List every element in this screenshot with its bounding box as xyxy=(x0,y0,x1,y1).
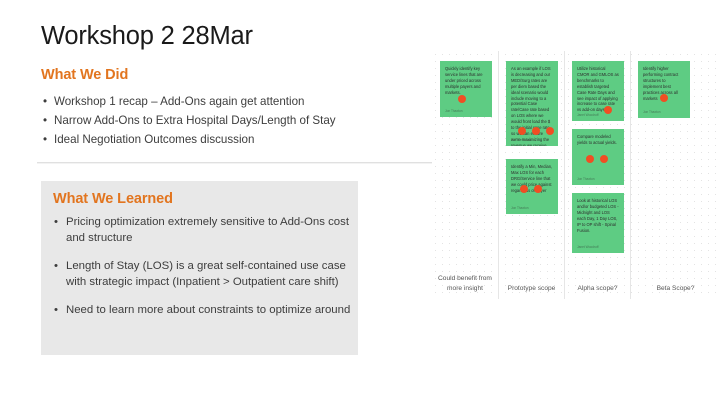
list-item-text: Need to learn more about constraints to … xyxy=(66,304,350,316)
vote-dot-icon[interactable] xyxy=(586,155,594,163)
sticky-note[interactable]: Identify a Min, Median, Max LOS for each… xyxy=(506,159,558,214)
column-label: Alpha scope? xyxy=(565,284,630,294)
bullet-icon: • xyxy=(43,130,47,149)
sticky-note-author: Jon Thaxton xyxy=(445,109,462,113)
column-label: Could benefit from more insight xyxy=(432,274,498,293)
bullet-icon: • xyxy=(54,259,58,275)
list-item: • Pricing optimization extremely sensiti… xyxy=(53,215,353,246)
what-we-did-heading: What We Did xyxy=(41,67,128,83)
list-item-text: Length of Stay (LOS) is a great self-con… xyxy=(66,260,346,288)
vote-dot-icon[interactable] xyxy=(518,127,526,135)
vote-dots[interactable] xyxy=(458,95,466,103)
what-we-learned-list: • Pricing optimization extremely sensiti… xyxy=(53,215,353,332)
sticky-note[interactable]: Identify higher performing contract stru… xyxy=(638,61,690,118)
list-item: • Length of Stay (LOS) is a great self-c… xyxy=(53,259,353,290)
list-item: • Workshop 1 recap – Add-Ons again get a… xyxy=(41,92,431,111)
bullet-icon: • xyxy=(43,111,47,130)
list-item-text: Ideal Negotiation Outcomes discussion xyxy=(54,133,254,146)
sticky-note-author: Jon Thaxton xyxy=(511,206,528,210)
vote-dot-icon[interactable] xyxy=(660,94,668,102)
bullet-icon: • xyxy=(54,303,58,319)
sticky-note-board[interactable]: Could benefit from more insight Quickly … xyxy=(432,51,720,299)
list-item: • Narrow Add-Ons to Extra Hospital Days/… xyxy=(41,111,431,130)
sticky-note-author: Janet Woodruff xyxy=(577,113,599,117)
sticky-note-text: Quickly identify key service lines that … xyxy=(445,66,487,96)
sticky-note[interactable]: Utilize historical CMOR and GMLOS as ben… xyxy=(572,61,624,121)
vote-dots[interactable] xyxy=(586,155,608,163)
page-title: Workshop 2 28Mar xyxy=(41,22,253,51)
section-divider xyxy=(37,162,433,164)
list-item: • Need to learn more about constraints t… xyxy=(53,303,353,319)
vote-dot-icon[interactable] xyxy=(520,185,528,193)
sticky-note[interactable]: Quickly identify key service lines that … xyxy=(440,61,492,117)
list-item-text: Narrow Add-Ons to Extra Hospital Days/Le… xyxy=(54,114,336,127)
sticky-note[interactable]: Look at historical LOS and/or budgeted L… xyxy=(572,193,624,253)
sticky-note-author: Jon Thaxton xyxy=(577,177,594,181)
what-we-did-list: • Workshop 1 recap – Add-Ons again get a… xyxy=(41,92,431,149)
sticky-note[interactable]: Compare modeled yields to actual yields.… xyxy=(572,129,624,185)
sticky-note-text: Utilize historical CMOR and GMLOS as ben… xyxy=(577,66,619,113)
list-item-text: Pricing optimization extremely sensitive… xyxy=(66,216,349,244)
list-item-text: Workshop 1 recap – Add-Ons again get att… xyxy=(54,95,305,108)
column-label: Prototype scope xyxy=(499,284,564,294)
vote-dot-icon[interactable] xyxy=(546,127,554,135)
sticky-note-author: Janet Woodruff xyxy=(577,245,599,249)
vote-dot-icon[interactable] xyxy=(604,106,612,114)
sticky-note-text: Compare modeled yields to actual yields. xyxy=(577,134,619,146)
bullet-icon: • xyxy=(43,92,47,111)
vote-dots[interactable] xyxy=(604,106,612,114)
vote-dots[interactable] xyxy=(520,185,542,193)
sticky-note[interactable]: As an example if LOS is decreasing and o… xyxy=(506,61,558,146)
sticky-note-author: Jon Thaxton xyxy=(643,110,660,114)
vote-dot-icon[interactable] xyxy=(458,95,466,103)
vote-dot-icon[interactable] xyxy=(600,155,608,163)
bullet-icon: • xyxy=(54,215,58,231)
what-we-learned-heading: What We Learned xyxy=(53,191,173,207)
column-label: Beta Scope? xyxy=(631,284,720,294)
sticky-note-text: Look at historical LOS and/or budgeted L… xyxy=(577,198,619,233)
sticky-note-author: Ron Demarcus xyxy=(511,138,532,142)
vote-dots[interactable] xyxy=(518,127,554,135)
vote-dots[interactable] xyxy=(660,94,668,102)
vote-dot-icon[interactable] xyxy=(534,185,542,193)
what-we-learned-panel: What We Learned • Pricing optimization e… xyxy=(41,181,358,355)
list-item: • Ideal Negotiation Outcomes discussion xyxy=(41,130,431,149)
vote-dot-icon[interactable] xyxy=(532,127,540,135)
